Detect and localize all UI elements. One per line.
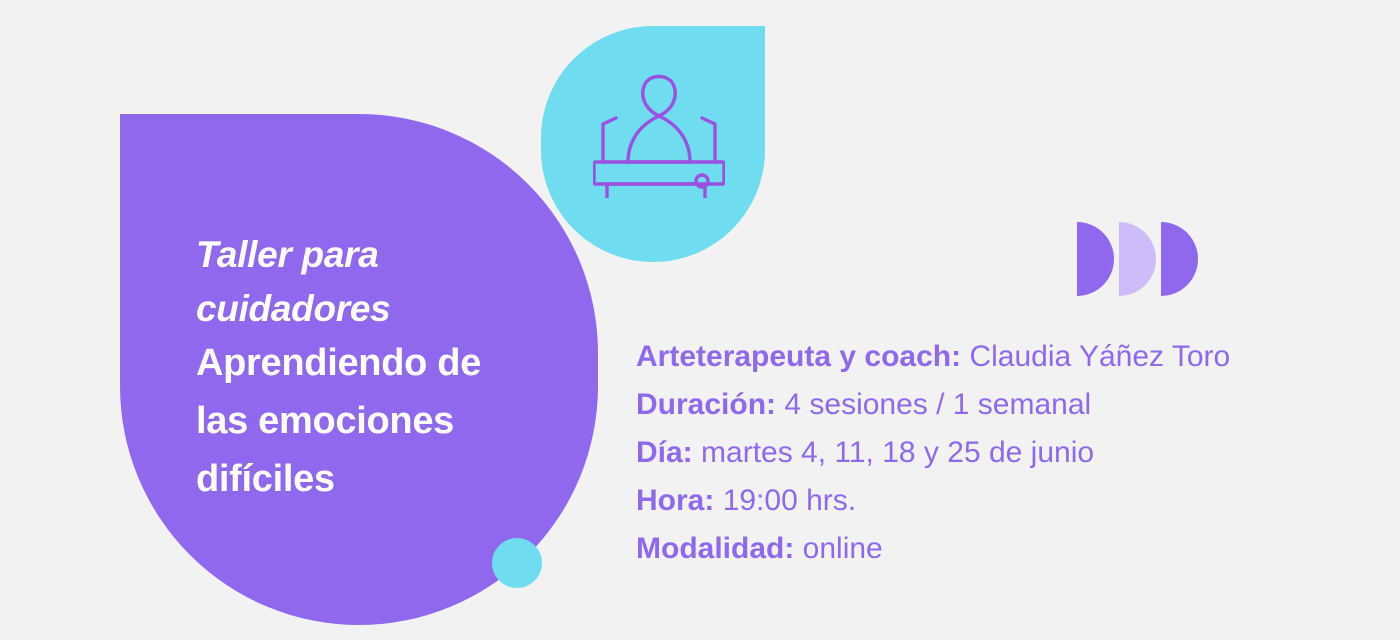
headline-kicker: Taller para cuidadores [196,228,556,335]
detail-line: Día: martes 4, 11, 18 y 25 de junio [636,429,1336,477]
detail-line: Arteterapeuta y coach: Claudia Yáñez Tor… [636,333,1336,381]
detail-value: Claudia Yáñez Toro [969,340,1230,373]
headline-block: Taller para cuidadores Aprendiendo de la… [196,228,556,509]
details-block: Arteterapeuta y coach: Claudia Yáñez Tor… [636,333,1336,573]
logo-half-disc [1119,222,1156,296]
detail-value: 4 sesiones / 1 semanal [784,388,1091,421]
detail-value: 19:00 hrs. [723,484,856,517]
cyan-accent-dot [492,538,542,588]
logo-half-disc [1077,222,1114,296]
brand-logo-mark [1077,222,1199,296]
detail-label: Hora: [636,484,714,517]
detail-label: Modalidad: [636,532,794,565]
detail-label: Arteterapeuta y coach: [636,340,961,373]
detail-value: online [803,532,883,565]
detail-label: Día: [636,436,693,469]
detail-label: Duración: [636,388,776,421]
detail-line: Hora: 19:00 hrs. [636,477,1336,525]
headline-title: Aprendiendo de las emociones difíciles [196,335,556,508]
logo-half-disc [1161,222,1198,296]
speaker-podium-icon [593,70,725,198]
poster-canvas: Taller para cuidadores Aprendiendo de la… [0,0,1400,640]
detail-value: martes 4, 11, 18 y 25 de junio [701,436,1094,469]
detail-line: Duración: 4 sesiones / 1 semanal [636,381,1336,429]
detail-line: Modalidad: online [636,525,1336,573]
